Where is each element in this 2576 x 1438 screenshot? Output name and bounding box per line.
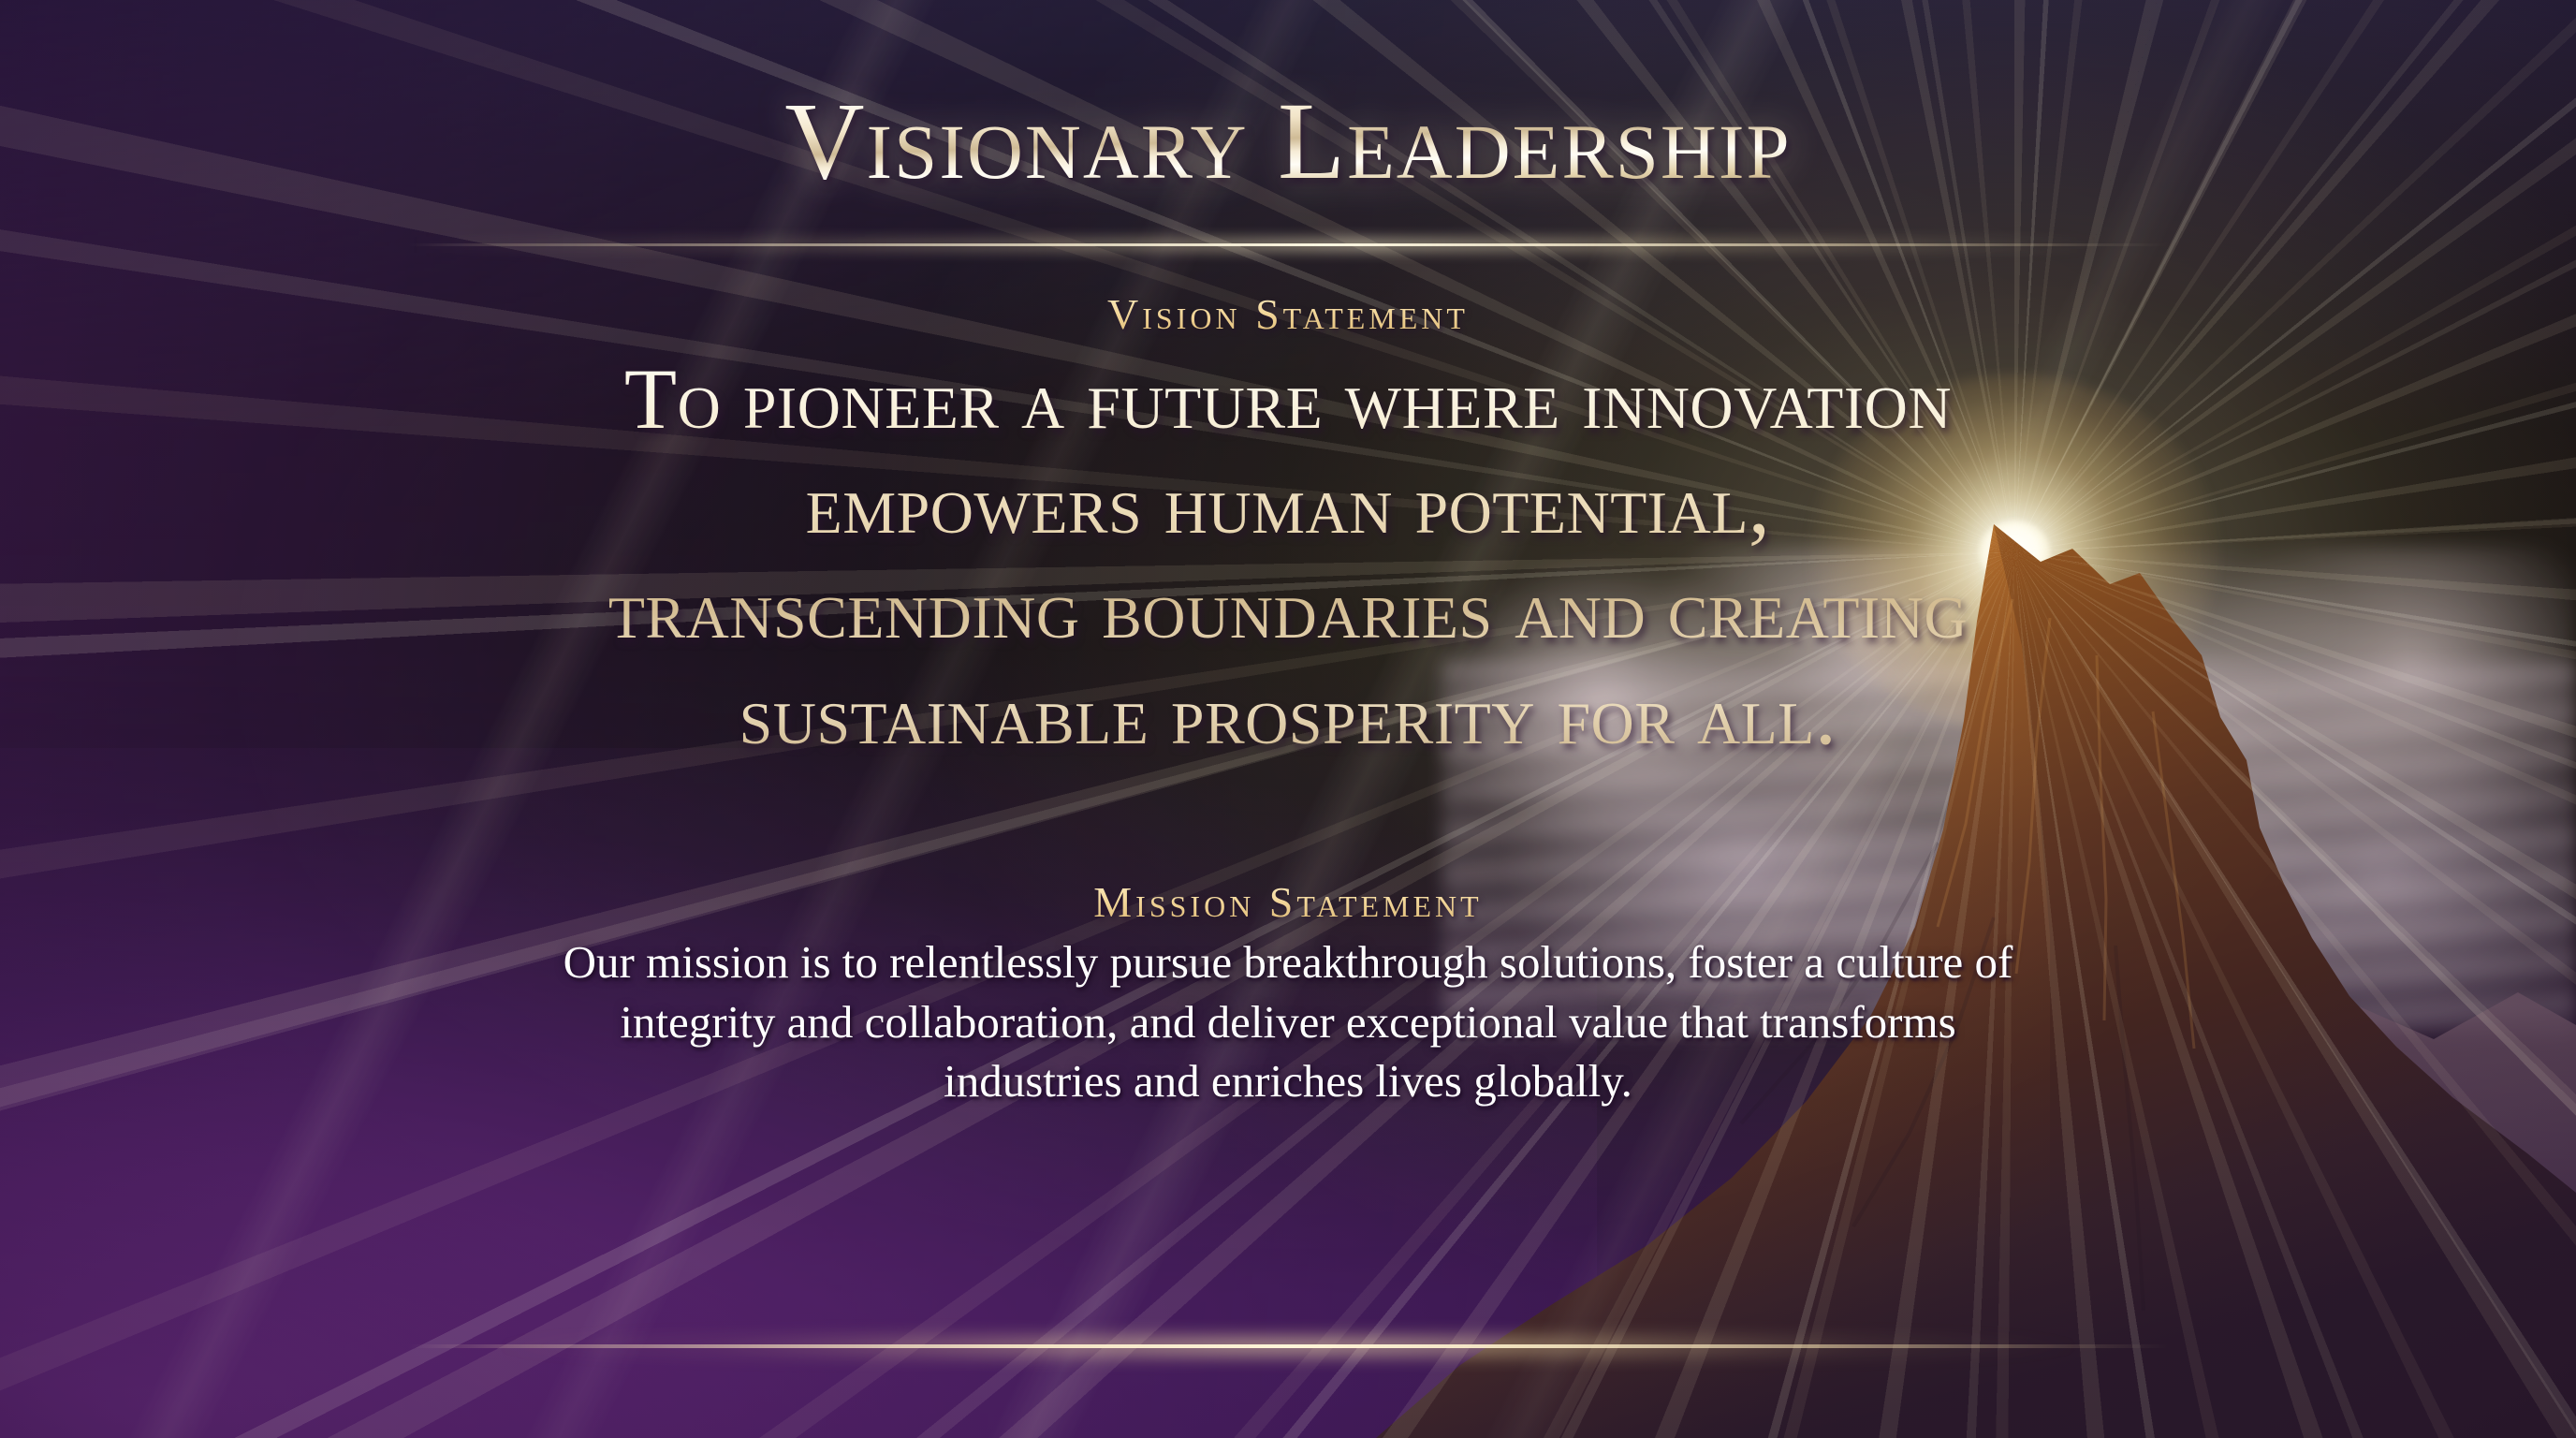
divider-top — [408, 243, 2168, 246]
divider-bottom-wrap — [408, 1298, 2168, 1348]
mission-section: Mission Statement Our mission is to rele… — [563, 877, 2013, 1111]
vision-line: transcending boundaries and creating — [608, 556, 1968, 661]
vision-line: empowers human potential, — [608, 451, 1968, 556]
vision-line: To pioneer a future where innovation — [608, 346, 1968, 451]
divider-bottom — [408, 1344, 2168, 1348]
poster-content: Visionary Leadership Vision Statement To… — [0, 0, 2576, 1438]
mission-line: Our mission is to relentlessly pursue br… — [563, 932, 2013, 992]
mission-statement-text: Our mission is to relentlessly pursue br… — [563, 932, 2013, 1111]
vision-line: sustainable prosperity for all. — [608, 662, 1968, 767]
mission-line: industries and enriches lives globally. — [563, 1051, 2013, 1111]
vision-statement-heading: Vision Statement — [1107, 289, 1469, 339]
mission-statement-heading: Mission Statement — [563, 877, 2013, 927]
poster-canvas: Visionary Leadership Vision Statement To… — [0, 0, 2576, 1438]
mission-line: integrity and collaboration, and deliver… — [563, 992, 2013, 1052]
vision-statement-text: To pioneer a future where innovation emp… — [608, 346, 1968, 767]
page-title: Visionary Leadership — [784, 86, 1791, 197]
